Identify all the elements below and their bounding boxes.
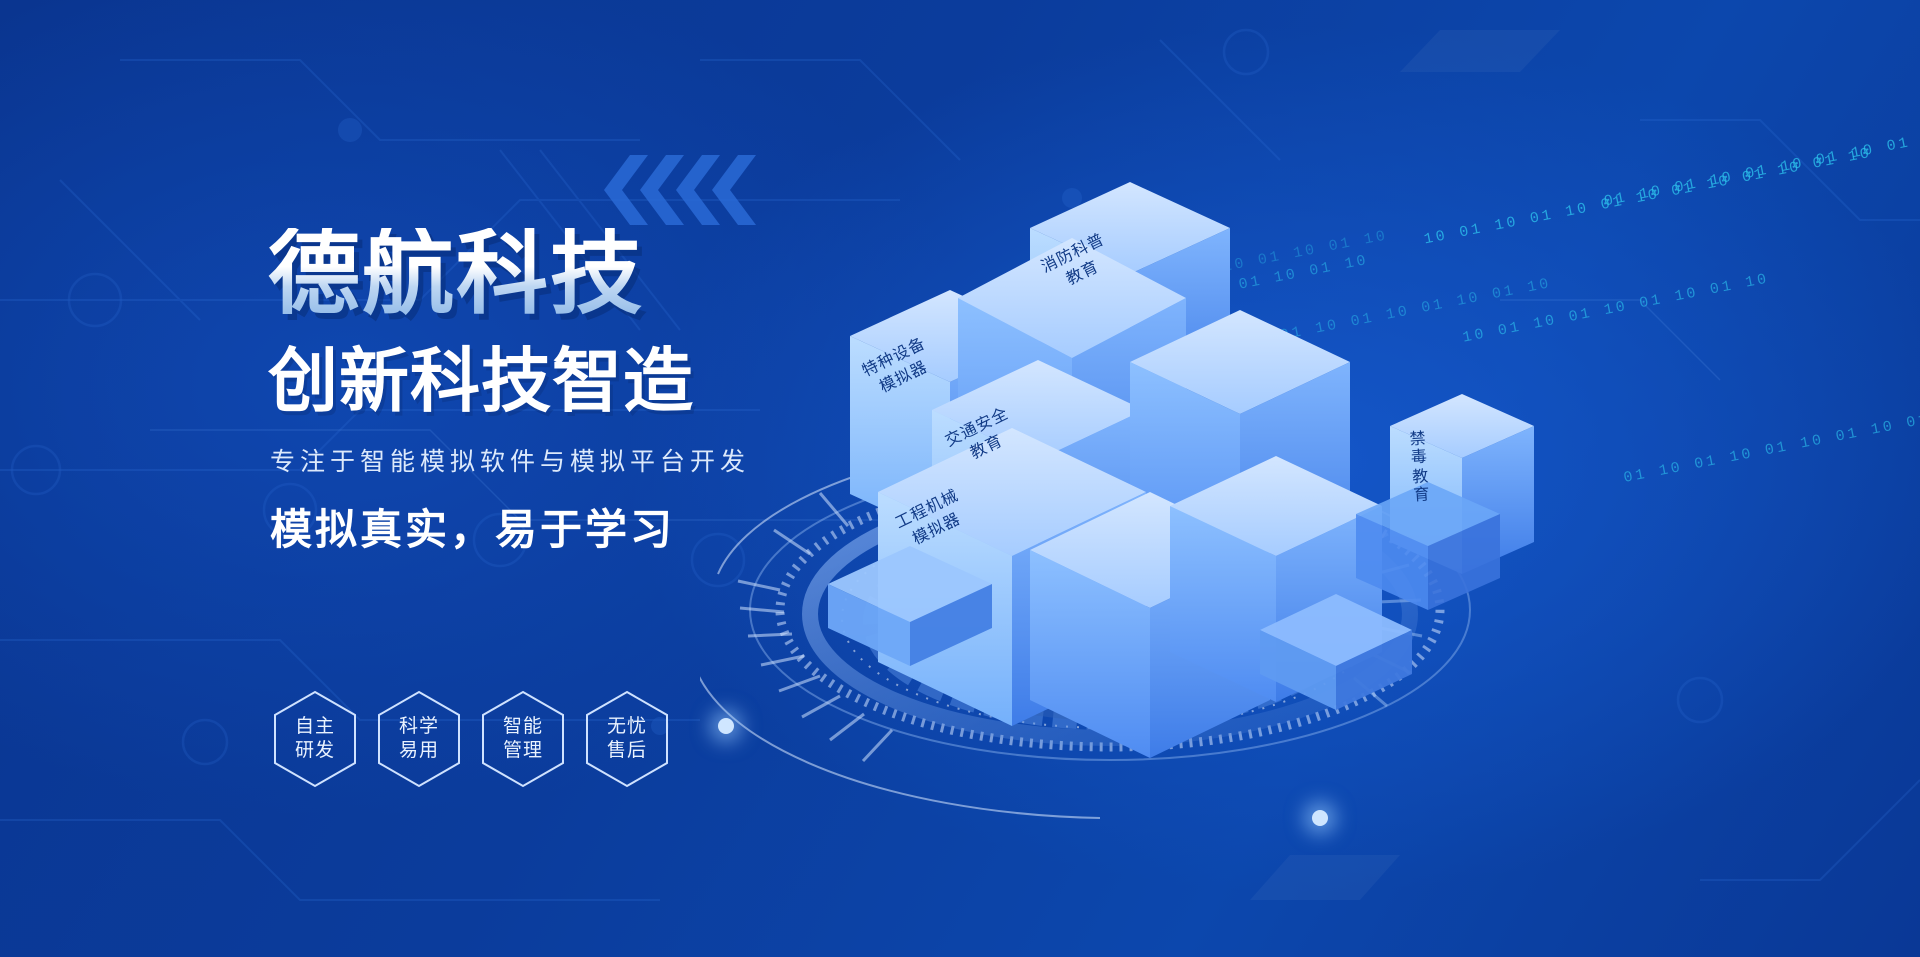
glow-dot-bottom xyxy=(1312,810,1328,826)
hero-slogan: 模拟真实，易于学习 xyxy=(270,496,888,557)
hero-headline: 创新科技智造 xyxy=(268,346,888,416)
badge-label: 科学易用 xyxy=(399,715,439,763)
hero-copy: 德航科技 创新科技智造 专注于智能模拟软件与模拟平台开发 模拟真实，易于学习 xyxy=(268,228,888,557)
badge-worry-free-support[interactable]: 无忧售后 xyxy=(584,690,670,788)
badge-label: 无忧售后 xyxy=(607,715,647,763)
hero-banner: 01 10 01 10 01 10 01 10 01 10 01 10 01 1… xyxy=(0,0,1920,957)
badge-smart-management[interactable]: 智能管理 xyxy=(480,690,566,788)
badge-scientific-easy[interactable]: 科学易用 xyxy=(376,690,462,788)
badge-label: 智能管理 xyxy=(503,715,543,763)
feature-badge-row: 自主研发 科学易用 智能管理 无忧售后 xyxy=(272,690,670,788)
brand-name: 德航科技 xyxy=(268,228,888,320)
badge-label: 自主研发 xyxy=(295,715,335,763)
hero-tagline: 专注于智能模拟软件与模拟平台开发 xyxy=(270,442,888,478)
glow-dot-left xyxy=(718,718,734,734)
badge-independent-rd[interactable]: 自主研发 xyxy=(272,690,358,788)
